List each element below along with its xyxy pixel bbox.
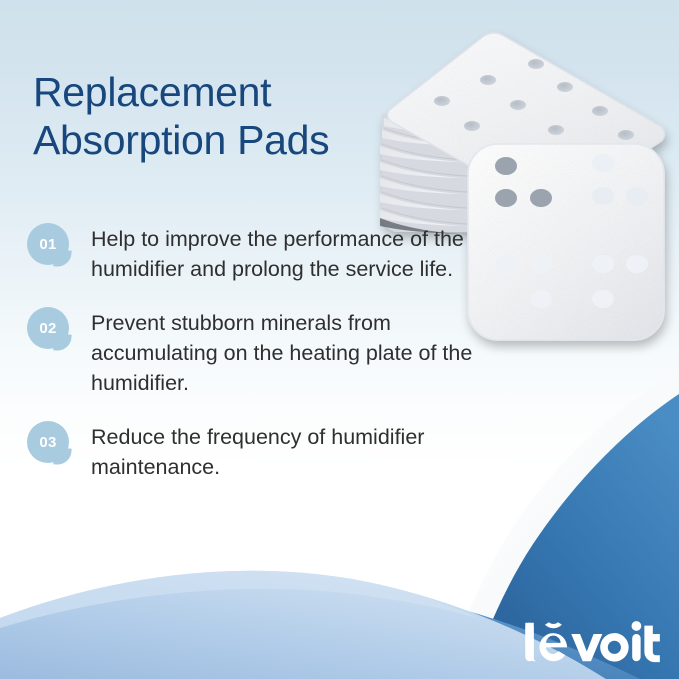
badge-number: 01 <box>39 236 56 253</box>
badge-circle: 02 <box>27 307 69 349</box>
feature-list: 01 Help to improve the performance of th… <box>27 221 477 503</box>
title-line-1: Replacement <box>33 68 413 116</box>
feature-item-01: 01 Help to improve the performance of th… <box>27 221 477 284</box>
brand-logo <box>519 619 661 673</box>
badge-circle: 01 <box>27 223 69 265</box>
badge-number: 03 <box>39 434 56 451</box>
feature-item-02: 02 Prevent stubborn minerals from accumu… <box>27 305 477 398</box>
levoit-wordmark-icon <box>519 619 661 664</box>
title-line-2: Absorption Pads <box>33 116 413 164</box>
wave-light-blue <box>0 571 606 679</box>
feature-item-03: 03 Reduce the frequency of humidifier ma… <box>27 419 477 482</box>
badge-circle: 03 <box>27 421 69 463</box>
feature-text-01: Help to improve the performance of the h… <box>75 221 477 284</box>
pad-front <box>468 144 664 340</box>
feature-badge-02: 02 <box>27 307 75 354</box>
wave-light-highlight <box>0 571 480 628</box>
feature-text-02: Prevent stubborn minerals from accumulat… <box>75 305 477 398</box>
product-feature-poster: Replacement Absorption Pads 01 Help to i… <box>0 0 679 679</box>
feature-badge-03: 03 <box>27 421 75 468</box>
page-title: Replacement Absorption Pads <box>33 68 413 164</box>
feature-text-03: Reduce the frequency of humidifier maint… <box>75 419 477 482</box>
badge-number: 02 <box>39 320 56 337</box>
feature-badge-01: 01 <box>27 223 75 270</box>
